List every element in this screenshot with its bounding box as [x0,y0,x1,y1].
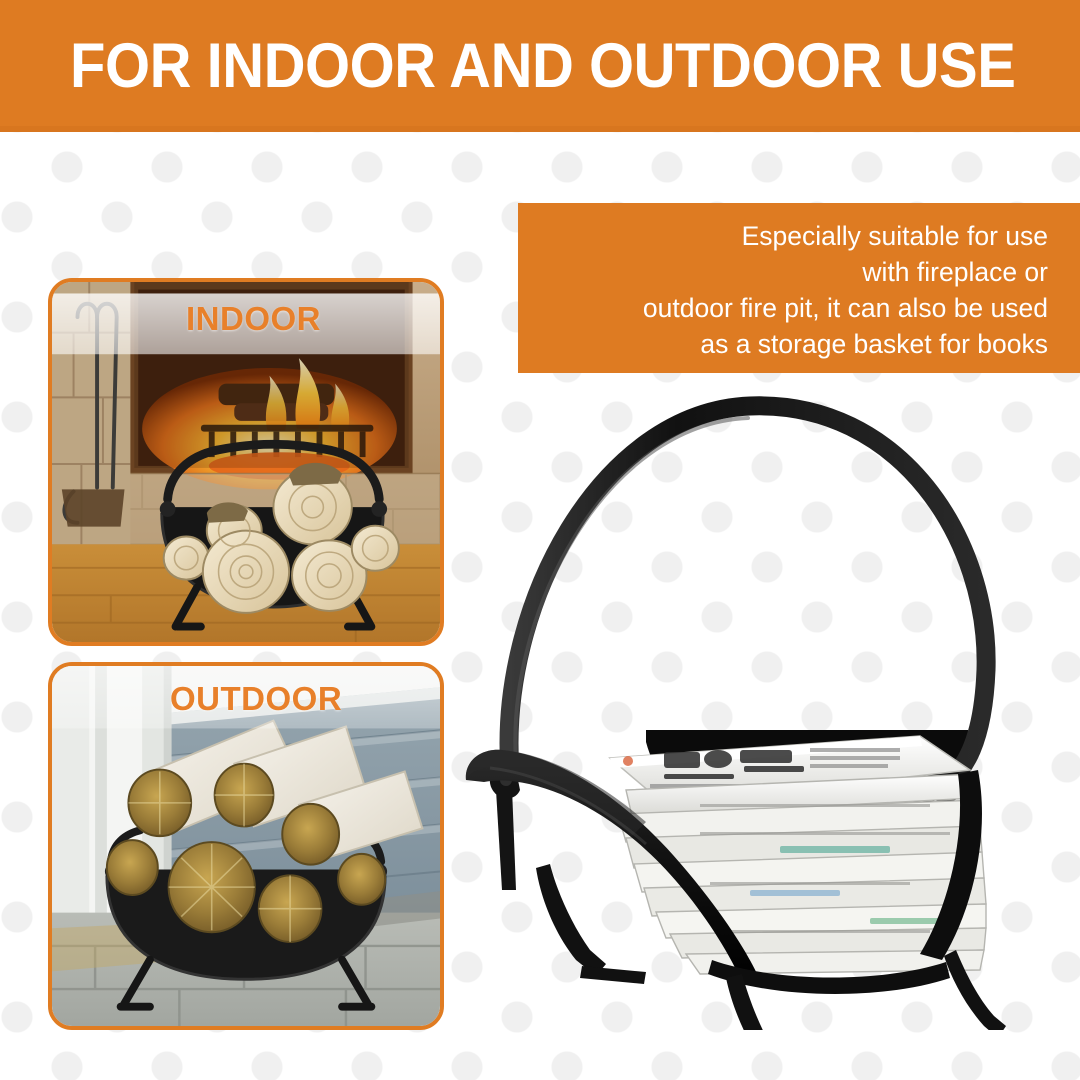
header-underline [0,126,1080,132]
card-label-outdoor: OUTDOOR [170,680,342,718]
hero-product-image [450,370,1080,1030]
infographic-page: FOR INDOOR AND OUTDOOR USE Especially su… [0,0,1080,1080]
outdoor-scene-illustration [52,666,440,1026]
card-label-indoor: INDOOR [186,300,321,338]
log-holder-with-newspapers-illustration [450,370,1080,1030]
handle-pivot-left [490,766,520,890]
callout-box: Especially suitable for use with firepla… [518,203,1080,373]
page-title: FOR INDOOR AND OUTDOOR USE [70,32,1015,100]
carry-handle [509,406,986,780]
callout-text: Especially suitable for use with firepla… [643,218,1048,362]
